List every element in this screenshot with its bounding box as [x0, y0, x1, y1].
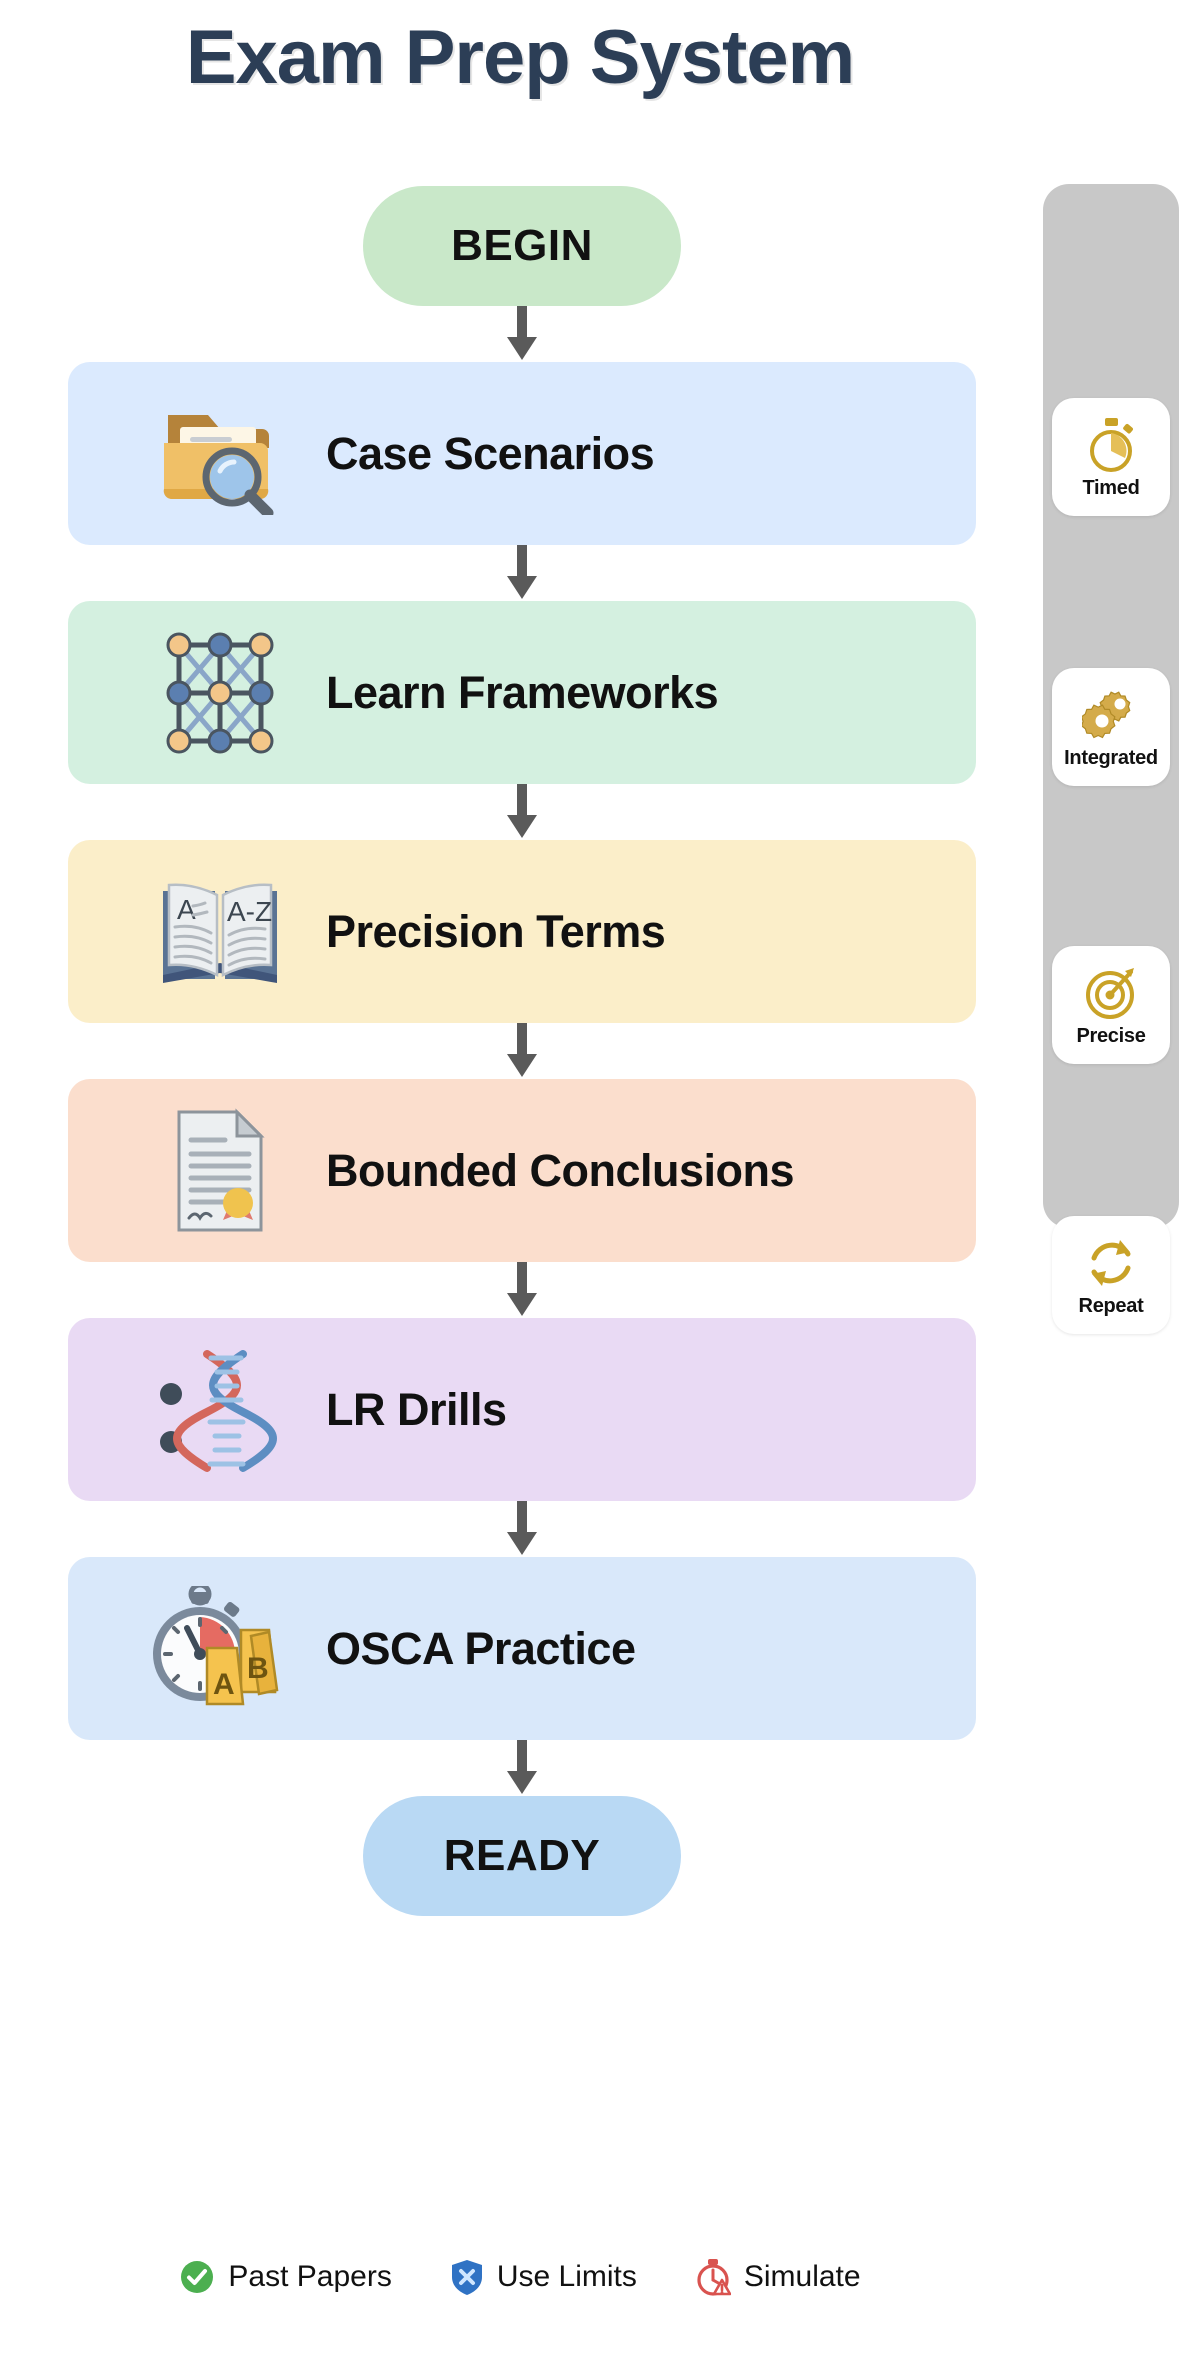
flow-diagram: BEGIN	[68, 186, 976, 1916]
attributes-sidebar: Timed Integrated	[1043, 184, 1179, 1228]
down-arrow-icon	[505, 1501, 539, 1557]
end-node-label: READY	[444, 1831, 601, 1881]
down-arrow-icon	[505, 306, 539, 362]
badge-label: Repeat	[1079, 1295, 1144, 1318]
down-arrow-icon	[505, 784, 539, 840]
svg-text:A: A	[213, 1668, 235, 1701]
blue-shield-x-icon	[450, 2258, 484, 2296]
step-label: Bounded Conclusions	[304, 1145, 794, 1197]
step-learn-frameworks[interactable]: Learn Frameworks	[68, 601, 976, 784]
sidebar-badge-timed[interactable]: Timed	[1052, 398, 1170, 516]
green-check-circle-icon	[179, 2259, 215, 2295]
step-case-scenarios[interactable]: Case Scenarios	[68, 362, 976, 545]
svg-text:B: B	[247, 1652, 269, 1685]
connector-arrow-1	[68, 545, 976, 601]
step-lr-drills[interactable]: LR Drills	[68, 1318, 976, 1501]
svg-text:A: A	[177, 894, 196, 925]
legend: Past Papers Use Limits Simulate	[0, 2258, 1040, 2296]
badge-label: Precise	[1076, 1025, 1145, 1048]
connector-arrow-5	[68, 1501, 976, 1557]
connector-arrow-2	[68, 784, 976, 840]
badge-label: Integrated	[1064, 747, 1158, 770]
legend-item-use-limits[interactable]: Use Limits	[450, 2258, 637, 2296]
red-timer-warning-icon	[695, 2258, 731, 2296]
gears-icon	[1082, 684, 1140, 746]
legend-label: Use Limits	[497, 2260, 637, 2294]
start-node[interactable]: BEGIN	[363, 186, 681, 306]
down-arrow-icon	[505, 545, 539, 601]
step-bounded-conclusions[interactable]: Bounded Conclusions	[68, 1079, 976, 1262]
dna-helix-icon	[136, 1346, 304, 1474]
network-grid-icon	[136, 629, 304, 757]
legend-item-past-papers[interactable]: Past Papers	[179, 2259, 391, 2295]
folder-search-icon	[136, 393, 304, 515]
sidebar-badge-repeat[interactable]: Repeat	[1052, 1216, 1170, 1334]
sidebar-badge-precise[interactable]: Precise	[1052, 946, 1170, 1064]
down-arrow-icon	[505, 1740, 539, 1796]
start-node-wrapper: BEGIN	[68, 186, 976, 306]
badge-label: Timed	[1082, 477, 1139, 500]
end-node-wrapper: READY	[68, 1796, 976, 1916]
page-title: Exam Prep System	[0, 14, 1040, 101]
target-icon	[1083, 962, 1139, 1024]
step-osca-practice[interactable]: B A OSCA Practice	[68, 1557, 976, 1740]
connector-arrow-3	[68, 1023, 976, 1079]
svg-text:A-Z: A-Z	[227, 896, 272, 927]
refresh-icon	[1084, 1232, 1138, 1294]
start-node-label: BEGIN	[451, 221, 593, 271]
connector-arrow-4	[68, 1262, 976, 1318]
connector-arrow-6	[68, 1740, 976, 1796]
sidebar-badge-integrated[interactable]: Integrated	[1052, 668, 1170, 786]
legend-label: Simulate	[744, 2260, 861, 2294]
end-node[interactable]: READY	[363, 1796, 681, 1916]
down-arrow-icon	[505, 1023, 539, 1079]
step-label: LR Drills	[304, 1384, 507, 1436]
step-label: Case Scenarios	[304, 428, 654, 480]
step-label: OSCA Practice	[304, 1623, 635, 1675]
step-label: Learn Frameworks	[304, 667, 718, 719]
open-dictionary-icon: A A-Z	[136, 871, 304, 993]
step-label: Precision Terms	[304, 906, 665, 958]
certificate-icon	[136, 1106, 304, 1236]
legend-item-simulate[interactable]: Simulate	[695, 2258, 861, 2296]
step-precision-terms[interactable]: A A-Z Precision	[68, 840, 976, 1023]
connector-arrow-0	[68, 306, 976, 362]
stopwatch-icon	[1083, 414, 1139, 476]
stopwatch-cards-icon: B A	[136, 1586, 304, 1712]
infographic-canvas: Exam Prep System BEGIN	[0, 0, 1200, 2367]
down-arrow-icon	[505, 1262, 539, 1318]
legend-label: Past Papers	[228, 2260, 391, 2294]
